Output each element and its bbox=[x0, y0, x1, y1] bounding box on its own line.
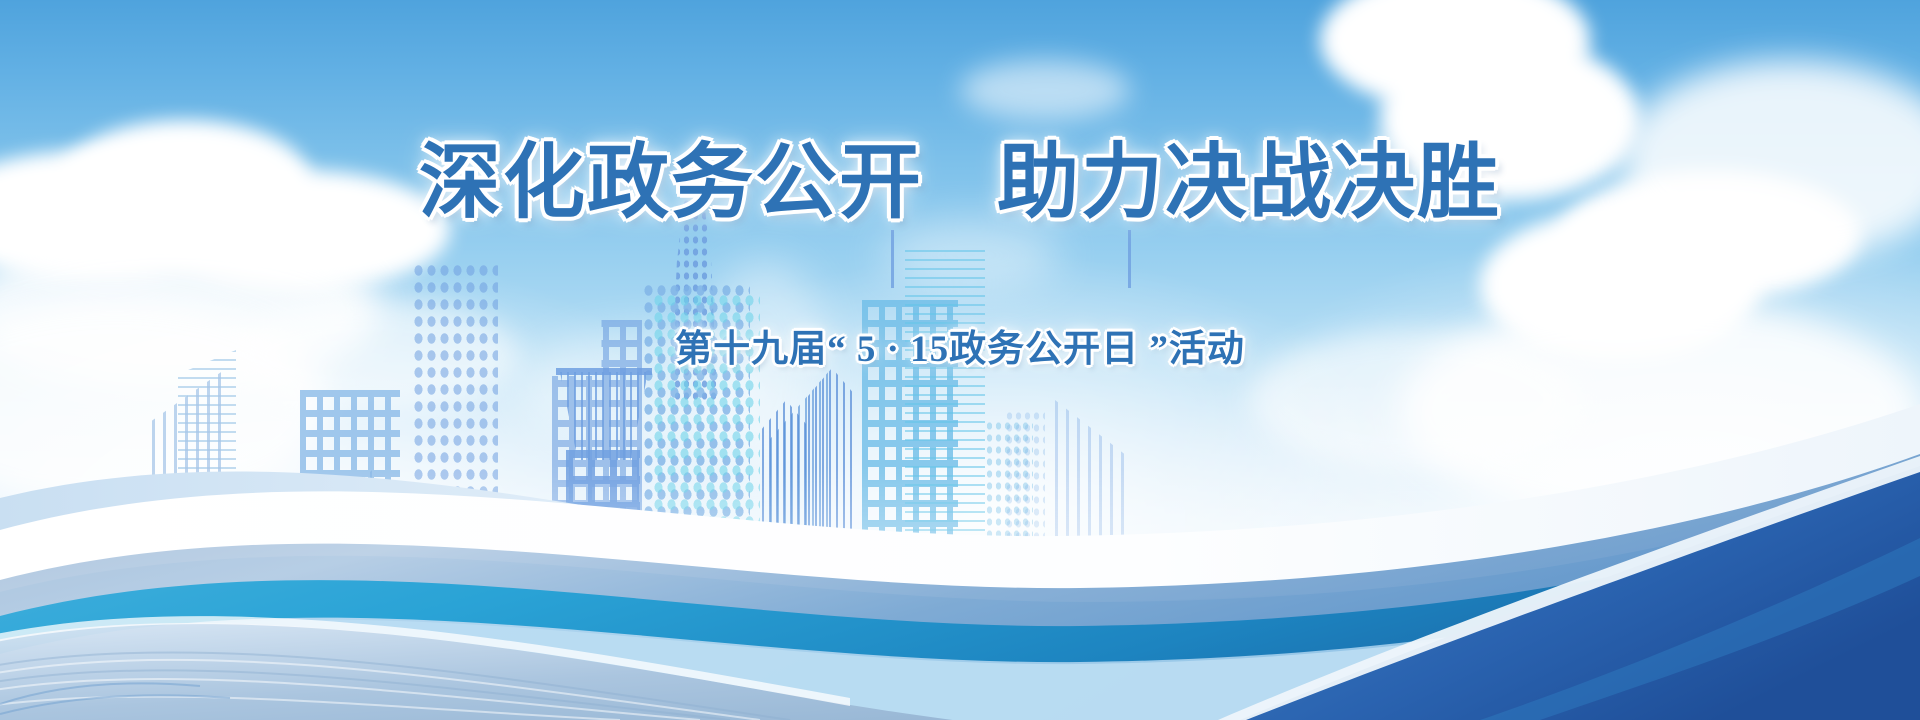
page-title: 深化政务公开助力决战决胜 bbox=[0, 140, 1920, 226]
text-layer: 深化政务公开助力决战决胜 第十九届“ 5 · 15政务公开日 ”活动 bbox=[0, 0, 1920, 720]
banner-root: 深化政务公开助力决战决胜 第十九届“ 5 · 15政务公开日 ”活动 bbox=[0, 0, 1920, 720]
main-title-part2: 助力决战决胜 bbox=[997, 137, 1501, 228]
main-title-part1: 深化政务公开 bbox=[419, 137, 923, 228]
page-subtitle: 第十九届“ 5 · 15政务公开日 ”活动 bbox=[0, 318, 1920, 372]
